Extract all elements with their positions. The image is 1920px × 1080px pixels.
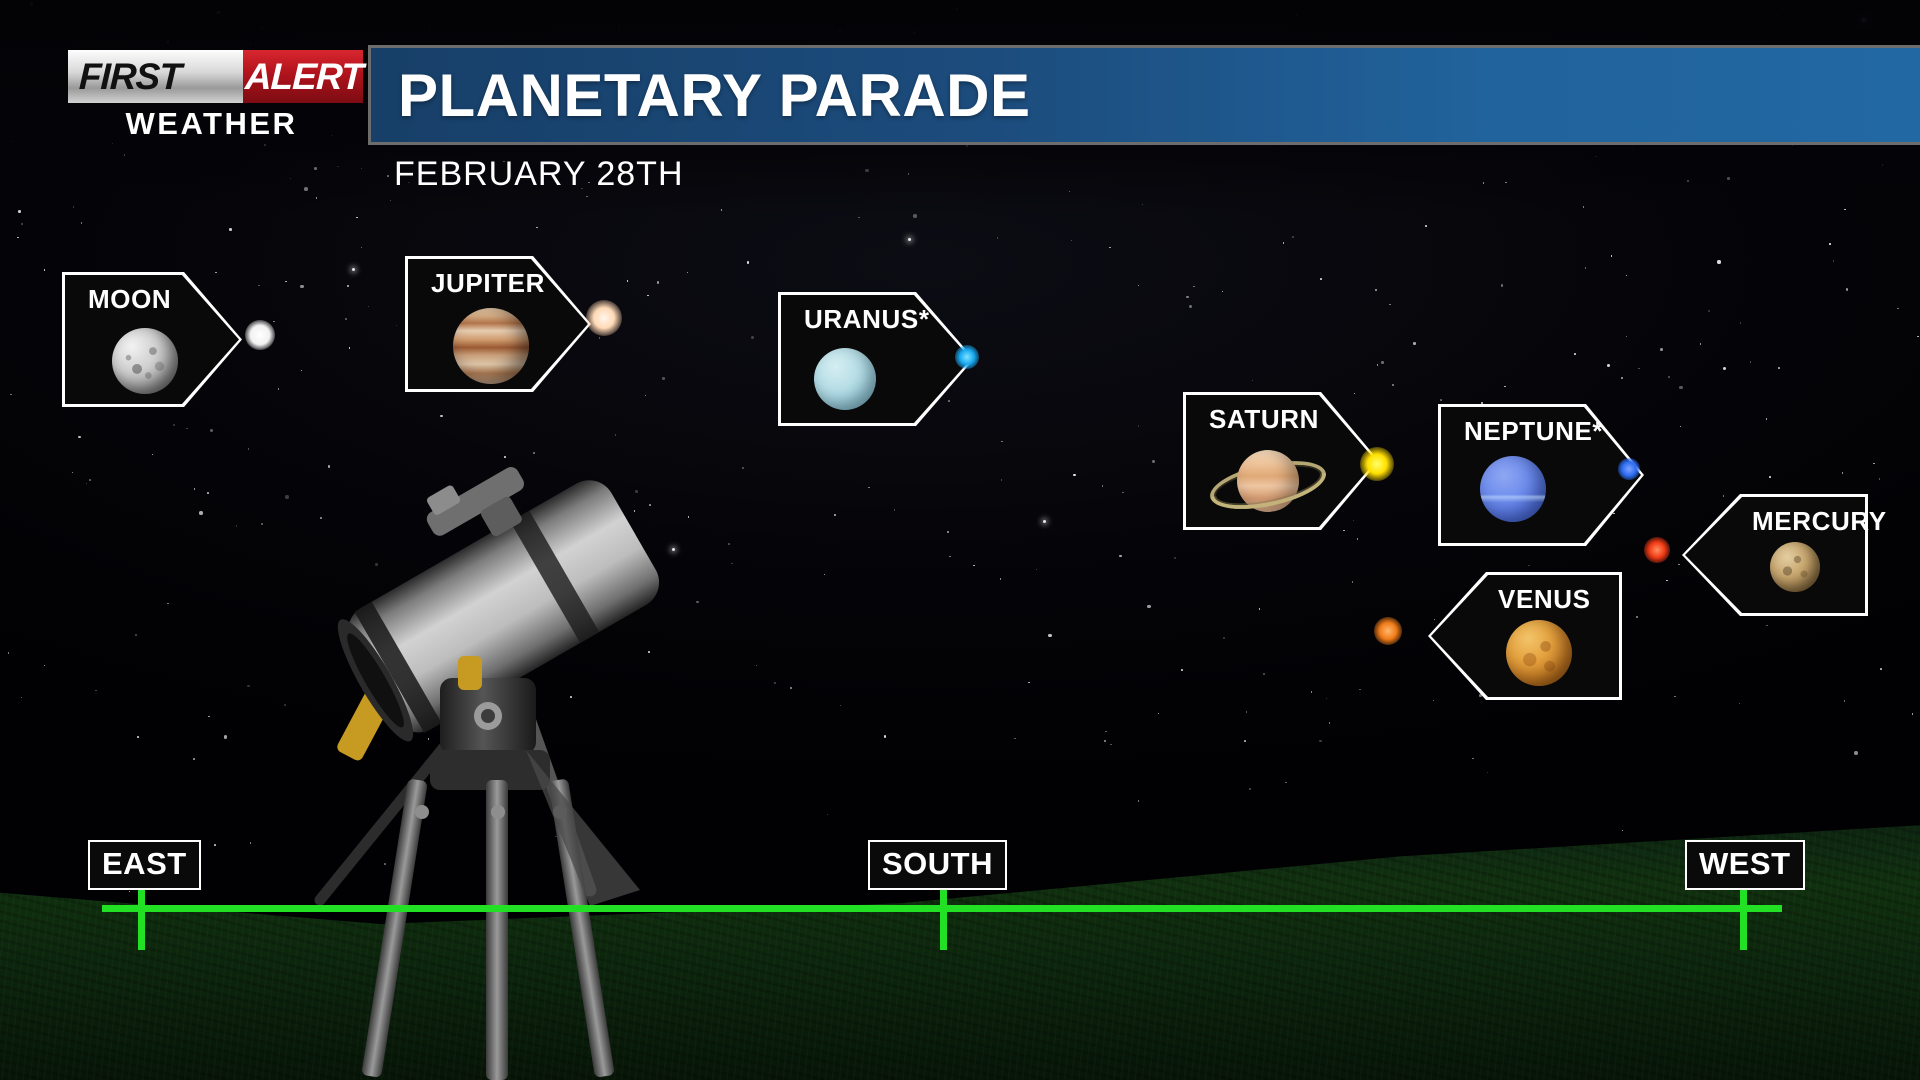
callout-label: URANUS* — [804, 304, 930, 335]
sky-dot-uranus — [955, 345, 979, 369]
callout-uranus[interactable]: URANUS* — [778, 292, 974, 426]
date-subtitle: FEBRUARY 28TH — [394, 155, 684, 194]
title-banner: PLANETARY PARADE — [368, 45, 1920, 145]
title-banner-fill: PLANETARY PARADE — [371, 48, 1920, 142]
sky-dot-venus — [1374, 617, 1402, 645]
venus-icon — [1506, 620, 1572, 686]
callout-moon[interactable]: MOON — [62, 272, 242, 407]
callout-jupiter[interactable]: JUPITER — [405, 256, 591, 392]
sky-dot-jupiter — [586, 300, 622, 336]
logo-weather-text: WEATHER — [68, 106, 355, 142]
callout-label: NEPTUNE* — [1464, 416, 1603, 447]
callout-label: SATURN — [1209, 404, 1319, 435]
station-logo: FIRST ALERT WEATHER — [68, 50, 358, 142]
logo-first-alert: FIRST ALERT — [68, 50, 355, 103]
logo-alert-block: ALERT — [243, 50, 363, 103]
jupiter-icon — [453, 308, 529, 384]
mercury-icon — [1770, 542, 1820, 592]
callout-mercury[interactable]: MERCURY — [1682, 494, 1868, 616]
sky-dot-saturn — [1360, 447, 1394, 481]
saturn-icon — [1209, 442, 1319, 522]
logo-first-block: FIRST — [68, 50, 243, 103]
compass-label-west: WEST — [1685, 840, 1805, 890]
page-title: PLANETARY PARADE — [398, 61, 1031, 130]
callout-label: MERCURY — [1752, 506, 1887, 537]
telescope-icon — [290, 420, 720, 1080]
callout-saturn[interactable]: SATURN — [1183, 392, 1379, 530]
callout-neptune[interactable]: NEPTUNE* — [1438, 404, 1644, 546]
weather-graphic-stage: MOON JUPITER URANUS* SATURN NEPTUNE* — [0, 0, 1920, 1080]
callout-label: MOON — [88, 284, 171, 315]
uranus-icon — [814, 348, 876, 410]
sky-dot-neptune — [1618, 458, 1640, 480]
moon-icon — [112, 328, 178, 394]
callout-label: JUPITER — [431, 268, 545, 299]
compass-label-south: SOUTH — [868, 840, 1007, 890]
callout-label: VENUS — [1498, 584, 1591, 615]
logo-first-text: FIRST — [78, 56, 181, 98]
callout-venus[interactable]: VENUS — [1428, 572, 1622, 700]
neptune-icon — [1480, 456, 1546, 522]
sky-dot-mercury — [1644, 537, 1670, 563]
sky-dot-moon — [245, 320, 275, 350]
logo-alert-text: ALERT — [244, 56, 363, 98]
compass-label-east: EAST — [88, 840, 201, 890]
